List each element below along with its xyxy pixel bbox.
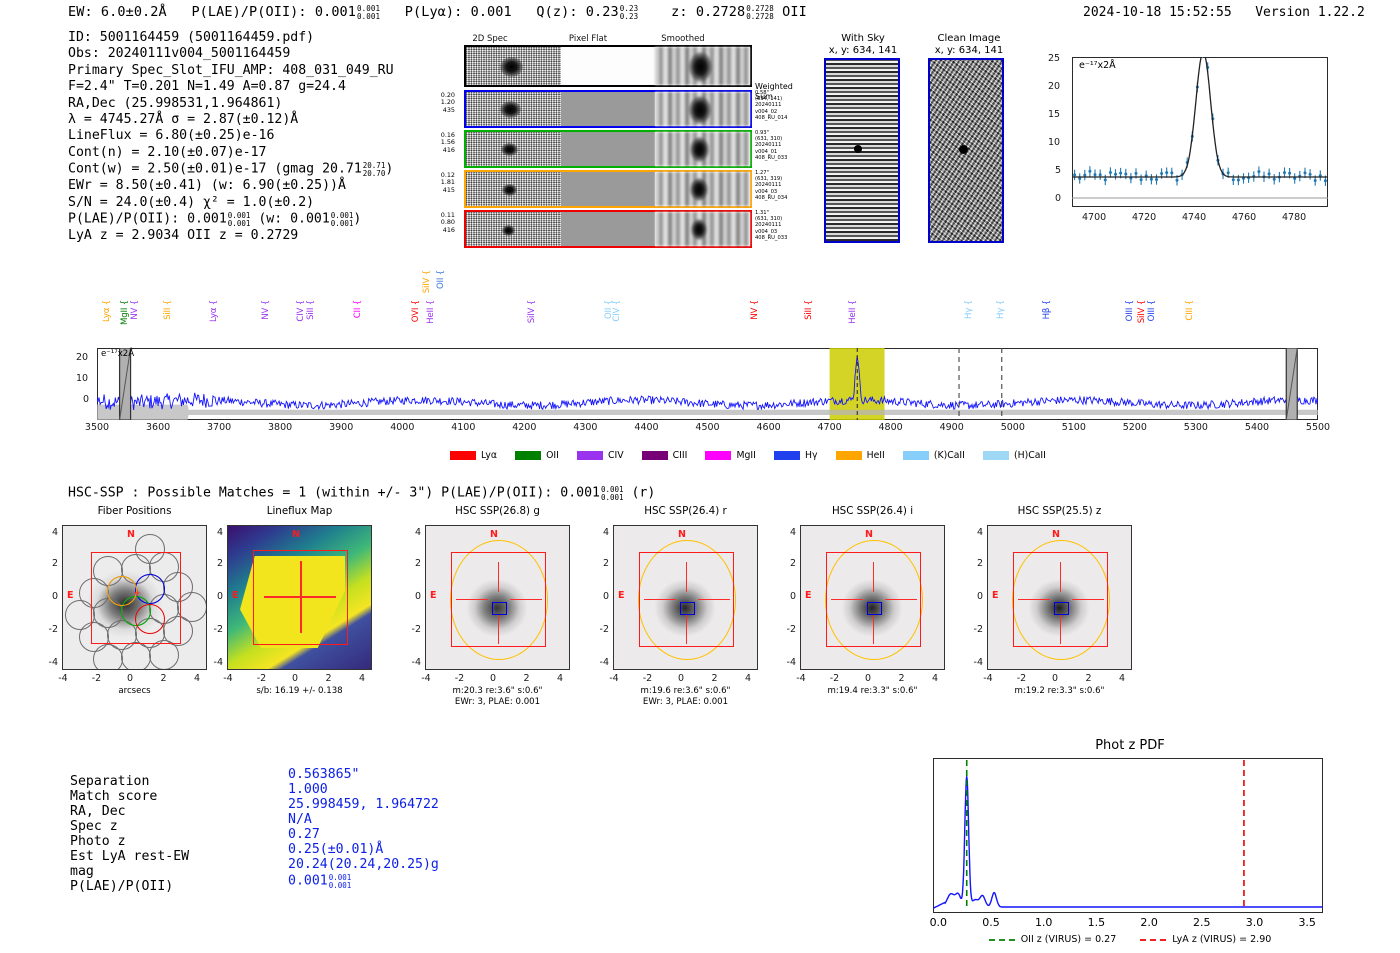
cutout-3-xtick-2: 0 <box>672 673 690 684</box>
cutout-0-ytick-2: 0 <box>40 591 58 602</box>
header-z-species: OII <box>782 4 807 20</box>
cutout-0-xtick-1: -2 <box>88 673 106 684</box>
two-d-spectra-panel: 2D Spec Pixel Flat Smoothed Weighted Sum <box>415 34 760 249</box>
full-xtick-4900: 4900 <box>935 422 969 433</box>
full-spectrum-legend: Lyα OII CIV CIII MgII Hγ HeII (K)CaII (H… <box>450 445 1059 464</box>
cutout-4-xtick-3: 2 <box>893 673 911 684</box>
match-val-est-lya-ew: 0.25(±0.01)Å <box>288 843 383 858</box>
cutout-2-xtick-3: 2 <box>518 673 536 684</box>
cutout-0-xtick-2: 0 <box>121 673 139 684</box>
hsc-header-lo: 0.001 <box>601 494 624 502</box>
cutout-0-ytick-0: 4 <box>40 527 58 538</box>
phot-z-xtick-5: 2.5 <box>1186 916 1218 929</box>
zoom-xtick-4720: 4720 <box>1132 212 1156 223</box>
zoom-spectrum-svg <box>1072 57 1328 207</box>
full-xtick-4400: 4400 <box>630 422 664 433</box>
info-plae-w-lo: 0.001 <box>331 220 354 228</box>
full-xtick-4100: 4100 <box>446 422 480 433</box>
emission-label-CII-8: CII { <box>353 300 363 318</box>
zoom-xtick-4700: 4700 <box>1082 212 1106 223</box>
match-key-match-score: Match score <box>70 790 157 805</box>
info-cont-w-lo: 20.70 <box>363 170 386 178</box>
cutout-0-ytick-3: -2 <box>40 624 58 635</box>
fiber-4-right-labels: 1.31" (631, 310) 20240111 v004_03 408_RU… <box>755 210 787 241</box>
fiber-2-right-labels: 0.93" (631, 310) 20240111 v004_01 408_RU… <box>755 130 787 161</box>
info-cont-w-text: Cont(w) = 2.50(±0.01)e-17 (gmag 20.71 <box>68 162 362 177</box>
full-xtick-4800: 4800 <box>874 422 908 433</box>
cutout-3-xtick-3: 2 <box>706 673 724 684</box>
col-title-smoothed: Smoothed <box>638 34 728 44</box>
info-plae-close: ) <box>353 212 361 227</box>
emission-label-SiIV-13: SiIV { <box>527 300 537 323</box>
match-table: Separation Match score RA, Dec Spec z Ph… <box>70 775 510 905</box>
fiber-1-r4: 408_RU_014 <box>755 115 787 121</box>
header-timestamp-version: 2024-10-18 15:52:55 Version 1.22.2 <box>1083 5 1365 20</box>
cutout-5-xtick-3: 2 <box>1080 673 1098 684</box>
phot-z-xtick-2: 1.0 <box>1028 916 1060 929</box>
emission-label-HeII-10: HeII { <box>426 300 436 324</box>
match-val-plae-lo: 0.001 <box>329 882 352 890</box>
cutout-5-xtick-1: -2 <box>1013 673 1031 684</box>
fiber-3-left-labels: 0.12 1.81 415 <box>405 172 455 194</box>
fiber-3-right-labels: 1.27" (631, 319) 20240111 v004_03 408_RU… <box>755 170 787 201</box>
fiber-1-right-labels: 0.58" (634, 141) 20240111 v004_02 408_RU… <box>755 90 787 121</box>
header-summary-line: EW: 6.0±0.2Å P(LAE)/P(OII): 0.0010.0010.… <box>68 4 807 20</box>
cutout-3-ytick-2: 0 <box>591 591 609 602</box>
legend-item-lya: Lyα <box>450 450 497 461</box>
full-xtick-4300: 4300 <box>568 422 602 433</box>
cutout-0-xtick-0: -4 <box>54 673 72 684</box>
cutout-5-ytick-0: 4 <box>965 527 983 538</box>
match-key-photo-z: Photo z <box>70 835 126 850</box>
info-redshifts: LyA z = 2.9034 OII z = 0.2729 <box>68 228 394 244</box>
header-ew-value: 6.0±0.2Å <box>101 4 167 20</box>
full-xtick-4600: 4600 <box>752 422 786 433</box>
legend-item-hgamma: Hγ <box>774 450 818 461</box>
emission-label-SiII-17: SiII { <box>804 300 814 320</box>
emission-label-OII-12: OII { <box>436 270 446 289</box>
fiber-strip-2 <box>464 130 752 168</box>
emission-label-MgII-1: MgII { <box>120 300 130 325</box>
cutout-4-xtick-4: 4 <box>926 673 944 684</box>
cutout-3-xtick-0: -4 <box>605 673 623 684</box>
emission-label-OIII-24: OIII { <box>1147 300 1157 321</box>
cutout-2-ytick-2: 0 <box>403 591 421 602</box>
cutout-image-2[interactable]: N E <box>425 525 570 670</box>
cutout-3-xtick-1: -2 <box>639 673 657 684</box>
cutout-1-ytick-0: 4 <box>205 527 223 538</box>
header-version: Version 1.22.2 <box>1255 5 1365 20</box>
header-plya-value: 0.001 <box>471 4 512 20</box>
cutout-2-ytick-1: 2 <box>403 558 421 569</box>
cutout-4-ytick-0: 4 <box>778 527 796 538</box>
cutout-image-0[interactable]: + N E <box>62 525 207 670</box>
cutout-footer-4: m:19.4 re:3.3" s:0.6" <box>770 686 975 697</box>
match-val-plae-text: 0.001 <box>288 874 328 889</box>
fiber-1-l2: 435 <box>405 107 455 114</box>
emission-label-H-20: Hγ { <box>996 300 1006 319</box>
cutout-title-2: HSC SSP(26.8) g <box>403 505 592 517</box>
fiber-4-left-labels: 0.11 0.80 416 <box>405 212 455 234</box>
cutout-1-xtick-1: -2 <box>253 673 271 684</box>
fiber-strip-1 <box>464 90 752 128</box>
full-xtick-4000: 4000 <box>385 422 419 433</box>
info-plae-text: P(LAE)/P(OII): 0.001 <box>68 212 227 227</box>
weighted-sum-strip <box>464 45 752 87</box>
clean-image-coords: x, y: 634, 141 <box>920 45 1018 57</box>
cutout-3-ytick-3: -2 <box>591 624 609 635</box>
cutout-4-xtick-2: 0 <box>859 673 877 684</box>
full-spectrum-units: e⁻¹⁷x2Å <box>101 349 134 359</box>
emission-label-NV-16: NV { <box>750 300 760 320</box>
legend-item-hcaii: (H)CaII <box>983 450 1046 461</box>
match-val-mag: 20.24(20.24,20.25)g <box>288 858 439 873</box>
info-primary-spec-slot: Primary Spec_Slot_IFU_AMP: 408_031_049_R… <box>68 63 394 79</box>
cutout-footer-1: s/b: 16.19 +/- 0.138 <box>197 686 402 697</box>
cutout-1-xtick-4: 4 <box>353 673 371 684</box>
cutout-image-3[interactable]: N E <box>613 525 758 670</box>
info-continuum-narrow: Cont(n) = 2.10(±0.07)e-17 <box>68 145 394 161</box>
cutout-2-xtick-2: 0 <box>484 673 502 684</box>
zoom-ytick-25: 25 <box>1048 53 1060 64</box>
full-spectrum-panel: Lyα {MgII {NV {SiII {Lyα {NV {CIV {SiII … <box>0 270 1400 470</box>
header-plae-lo: 0.001 <box>357 13 380 21</box>
header-qz-lo: 0.23 <box>620 13 638 21</box>
full-xtick-5100: 5100 <box>1057 422 1091 433</box>
phot-z-legend: OII z (VIRUS) = 0.27 LyA z (VIRUS) = 2.9… <box>935 934 1325 945</box>
legend-item-heii: HeII <box>836 450 885 461</box>
zoom-xtick-4780: 4780 <box>1282 212 1306 223</box>
info-plae: P(LAE)/P(OII): 0.0010.0010.001 (w: 0.001… <box>68 211 394 228</box>
hsc-header-text: HSC-SSP : Possible Matches = 1 (within +… <box>68 486 600 501</box>
cutout-3-xtick-4: 4 <box>739 673 757 684</box>
header-plae-value: 0.001 <box>315 4 356 20</box>
header-z-lo: 0.2728 <box>746 13 774 21</box>
cutout-3-ytick-1: 2 <box>591 558 609 569</box>
cutout-5-xtick-2: 0 <box>1046 673 1064 684</box>
emission-label-H-21: Hβ { <box>1042 300 1052 319</box>
cutout-0-ytick-1: 2 <box>40 558 58 569</box>
clean-image-title: Clean Image <box>920 33 1018 45</box>
match-val-photo-z: 0.27 <box>288 828 320 843</box>
match-key-mag: mag <box>70 865 94 880</box>
full-xtick-3700: 3700 <box>202 422 236 433</box>
match-key-plae: P(LAE)/P(OII) <box>70 880 173 895</box>
cutout-2-ytick-0: 4 <box>403 527 421 538</box>
cutout-4-xtick-0: -4 <box>792 673 810 684</box>
cutout-4-xtick-1: -2 <box>826 673 844 684</box>
emission-label-CIV-6: CIV { <box>296 300 306 322</box>
full-xtick-5400: 5400 <box>1240 422 1274 433</box>
phot-z-legend-oii: OII z (VIRUS) = 0.27 <box>989 934 1117 945</box>
info-obs: Obs: 20240111v004_5001164459 <box>68 46 394 62</box>
info-wavelength-sigma: λ = 4745.27Å σ = 2.87(±0.12)Å <box>68 112 394 128</box>
hsc-header: HSC-SSP : Possible Matches = 1 (within +… <box>68 485 655 501</box>
cutout-image-5[interactable]: N E <box>987 525 1132 670</box>
phot-z-xtick-0: 0.0 <box>922 916 954 929</box>
clean-image-caption: Clean Image x, y: 634, 141 <box>920 33 1018 57</box>
header-qz-value: 0.23 <box>586 4 619 20</box>
emission-label-NV-2: NV { <box>130 300 140 320</box>
cutout-1-xtick-0: -4 <box>219 673 237 684</box>
cutout-0-xtick-4: 4 <box>188 673 206 684</box>
phot-z-svg <box>933 758 1323 913</box>
phot-z-xtick-1: 0.5 <box>975 916 1007 929</box>
full-xtick-5500: 5500 <box>1301 422 1335 433</box>
zoom-ytick-0: 0 <box>1055 193 1061 204</box>
cutout-2-ytick-3: -2 <box>403 624 421 635</box>
cutout-1-ytick-2: 0 <box>205 591 223 602</box>
full-xtick-5200: 5200 <box>1118 422 1152 433</box>
clean-image <box>928 58 1004 243</box>
header-plya-label: P(Lyα): <box>405 4 463 20</box>
emission-label-OIII-22: OIII { <box>1125 300 1135 321</box>
emission-label-SiII-7: SiII { <box>306 300 316 320</box>
cutout-4-ytick-2: 0 <box>778 591 796 602</box>
full-xtick-4500: 4500 <box>691 422 725 433</box>
cutout-title-4: HSC SSP(26.4) i <box>778 505 967 517</box>
full-ytick-0: 0 <box>83 394 89 405</box>
info-lineflux: LineFlux = 6.80(±0.25)e-16 <box>68 128 394 144</box>
cutout-1-xtick-2: 0 <box>286 673 304 684</box>
emission-label-H-19: Hγ { <box>964 300 974 319</box>
emission-label-SiIV-11: SiIV { <box>422 270 432 293</box>
zoom-spectrum-panel: e⁻¹⁷x2Å 25 20 15 10 5 0 4700 4720 4740 4… <box>1032 55 1332 229</box>
phot-z-xtick-7: 3.5 <box>1291 916 1323 929</box>
full-xtick-3500: 3500 <box>80 422 114 433</box>
cutout-0-ytick-4: -4 <box>40 657 58 668</box>
with-sky-title: With Sky <box>818 33 908 45</box>
info-continuum-wide: Cont(w) = 2.50(±0.01)e-17 (gmag 20.7120.… <box>68 161 394 178</box>
cutout-footer-2: m:20.3 re:3.6" s:0.6"EWr: 3, PLAE: 0.001 <box>395 686 600 708</box>
cutout-5-xtick-4: 4 <box>1113 673 1131 684</box>
cutout-5-ytick-3: -2 <box>965 624 983 635</box>
info-cont-w-close: ) <box>385 162 393 177</box>
emission-label-CIV-15: CIV { <box>612 300 622 322</box>
cutout-2-xtick-0: -4 <box>417 673 435 684</box>
full-xtick-5000: 5000 <box>996 422 1030 433</box>
emission-label-NV-5: NV { <box>261 300 271 320</box>
match-key-radec: RA, Dec <box>70 805 126 820</box>
full-xtick-4700: 4700 <box>813 422 847 433</box>
cutout-image-1[interactable]: N E <box>227 525 372 670</box>
full-ytick-20: 20 <box>76 352 88 363</box>
full-ytick-10: 10 <box>76 373 88 384</box>
phot-z-legend-lya: LyA z (VIRUS) = 2.90 <box>1140 934 1271 945</box>
cutout-5-xtick-0: -4 <box>979 673 997 684</box>
header-plae-label: P(LAE)/P(OII): <box>191 4 306 20</box>
header-z-value: 0.2728 <box>696 4 745 20</box>
match-key-est-lya-ew: Est LyA rest-EW <box>70 850 189 865</box>
legend-item-kcaii: (K)CaII <box>903 450 965 461</box>
cutout-4-ytick-3: -2 <box>778 624 796 635</box>
cutout-2-xtick-1: -2 <box>451 673 469 684</box>
cutout-1-ytick-3: -2 <box>205 624 223 635</box>
cutout-2-xtick-4: 4 <box>551 673 569 684</box>
cutout-title-1: Lineflux Map <box>205 505 394 517</box>
hsc-header-filter: (r) <box>631 486 655 501</box>
zoom-ytick-20: 20 <box>1048 81 1060 92</box>
cutout-title-5: HSC SSP(25.5) z <box>965 505 1154 517</box>
legend-item-oii: OII <box>515 450 559 461</box>
full-xtick-5300: 5300 <box>1179 422 1213 433</box>
with-sky-caption: With Sky x, y: 634, 141 <box>818 33 908 57</box>
fiber-1-left-labels: 0.20 1.20 435 <box>405 92 455 114</box>
emission-label-Ly-0: Lyα { <box>102 300 112 322</box>
info-plae-w-text: (w: 0.001 <box>258 212 329 227</box>
zoom-xtick-4760: 4760 <box>1232 212 1256 223</box>
cutout-3-ytick-4: -4 <box>591 657 609 668</box>
cutout-1-xtick-3: 2 <box>320 673 338 684</box>
info-seeing-throughput: F=2.4" T=0.201 N=1.49 A=0.87 g=24.4 <box>68 79 394 95</box>
emission-label-SiIV-23: SiIV { <box>1137 300 1147 323</box>
full-xtick-4200: 4200 <box>507 422 541 433</box>
weighted-sum-smoothed <box>655 47 750 85</box>
fiber-2-left-labels: 0.16 1.56 416 <box>405 132 455 154</box>
match-key-spec-z: Spec z <box>70 820 118 835</box>
with-sky-image <box>824 58 900 243</box>
cutout-5-ytick-4: -4 <box>965 657 983 668</box>
zoom-ytick-5: 5 <box>1055 165 1061 176</box>
fiber-strip-3 <box>464 170 752 208</box>
zoom-xtick-4740: 4740 <box>1182 212 1206 223</box>
header-ew-label: EW: <box>68 4 93 20</box>
match-key-separation: Separation <box>70 775 149 790</box>
cutout-5-ytick-1: 2 <box>965 558 983 569</box>
detection-info-block: ID: 5001164459 (5001164459.pdf) Obs: 202… <box>68 30 394 245</box>
header-z-label: z: <box>671 4 687 20</box>
info-ewr: EWr = 8.50(±0.41) (w: 6.90(±0.25))Å <box>68 178 394 194</box>
cutout-title-3: HSC SSP(26.4) r <box>591 505 780 517</box>
match-val-separation: 0.563865" <box>288 768 359 783</box>
fiber-strip-4 <box>464 210 752 248</box>
cutout-0-xtick-3: 2 <box>155 673 173 684</box>
cutout-1-ytick-1: 2 <box>205 558 223 569</box>
fiber-3-r4: 408_RU_034 <box>755 195 787 201</box>
cutout-3-ytick-0: 4 <box>591 527 609 538</box>
emission-label-SiII-3: SiII { <box>163 300 173 320</box>
fiber-3-l2: 415 <box>405 187 455 194</box>
col-title-pixelflat: Pixel Flat <box>543 34 633 44</box>
weighted-sum-pixelflat <box>561 47 656 85</box>
emission-label-HeII-18: HeII { <box>848 300 858 324</box>
col-title-2dspec: 2D Spec <box>445 34 535 44</box>
zoom-ytick-15: 15 <box>1048 109 1060 120</box>
cutout-1-ytick-4: -4 <box>205 657 223 668</box>
with-sky-coords: x, y: 634, 141 <box>818 45 908 57</box>
emission-label-CIII-25: CIII { <box>1185 300 1195 321</box>
cutout-5-ytick-2: 0 <box>965 591 983 602</box>
full-xtick-3800: 3800 <box>263 422 297 433</box>
cutout-footer-3: m:19.6 re:3.6" s:0.6"EWr: 3, PLAE: 0.001 <box>583 686 788 708</box>
weighted-sum-2dspec <box>466 47 561 85</box>
cutout-title-0: Fiber Positions <box>40 505 229 517</box>
info-radec: RA,Dec (25.998531,1.964861) <box>68 96 394 112</box>
emission-label-Ly-4: Lyα { <box>209 300 219 322</box>
emission-line-labels: Lyα {MgII {NV {SiII {Lyα {NV {CIV {SiII … <box>0 270 1400 348</box>
match-val-spec-z: N/A <box>288 813 312 828</box>
fiber-4-l2: 416 <box>405 227 455 234</box>
legend-item-civ: CIV <box>577 450 624 461</box>
match-val-plae: 0.0010.0010.001 <box>288 873 351 890</box>
cutout-panel-row: Fiber Positions + N E arcsecs420-2-4-4-2… <box>0 505 1400 735</box>
fiber-2-l2: 416 <box>405 147 455 154</box>
cutout-2-ytick-4: -4 <box>403 657 421 668</box>
phot-z-xtick-4: 2.0 <box>1133 916 1165 929</box>
header-qz-label: Q(z): <box>536 4 577 20</box>
cutout-footer-5: m:19.2 re:3.3" s:0.6" <box>957 686 1162 697</box>
match-val-match-score: 1.000 <box>288 783 328 798</box>
phot-z-title: Phot z PDF <box>935 738 1325 753</box>
legend-item-mgii: MgII <box>705 450 755 461</box>
info-plae-lo: 0.001 <box>228 220 251 228</box>
full-xtick-3900: 3900 <box>324 422 358 433</box>
match-val-radec: 25.998459, 1.964722 <box>288 798 439 813</box>
zoom-ytick-10: 10 <box>1048 137 1060 148</box>
cutout-4-ytick-4: -4 <box>778 657 796 668</box>
cutout-image-4[interactable]: N E <box>800 525 945 670</box>
cutout-4-ytick-1: 2 <box>778 558 796 569</box>
info-snr-chi2: S/N = 24.0(±0.4) χ² = 1.0(±0.2) <box>68 195 394 211</box>
full-spectrum-svg <box>97 348 1318 420</box>
info-id: ID: 5001164459 (5001164459.pdf) <box>68 30 394 46</box>
phot-z-pdf-panel: Phot z PDF 0.00.51.01.52.02.53.03.5 OII … <box>935 738 1325 953</box>
fiber-4-r4: 408_RU_033 <box>755 235 787 241</box>
phot-z-xtick-6: 3.0 <box>1239 916 1271 929</box>
full-xtick-3600: 3600 <box>141 422 175 433</box>
header-datetime: 2024-10-18 15:52:55 <box>1083 5 1232 20</box>
legend-item-ciii: CIII <box>642 450 688 461</box>
emission-label-OVI-9: OVI { <box>411 300 421 322</box>
fiber-2-r4: 408_RU_033 <box>755 155 787 161</box>
phot-z-xtick-3: 1.5 <box>1080 916 1112 929</box>
